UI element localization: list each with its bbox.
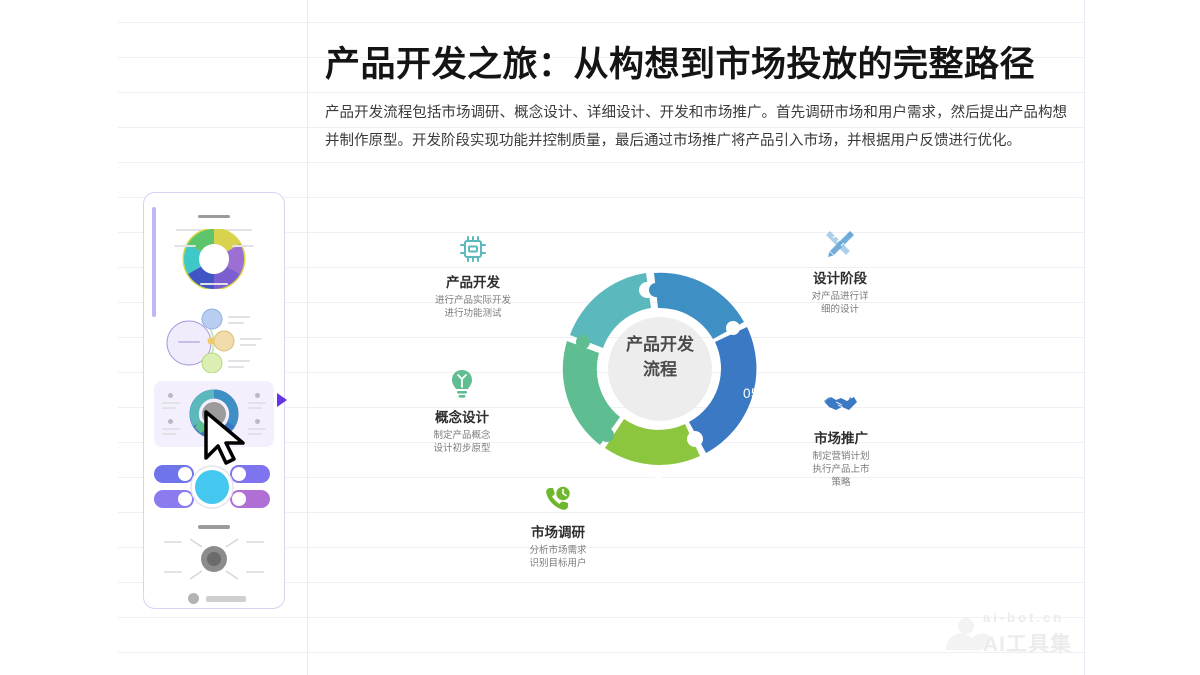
callout-title: 市场调研 bbox=[495, 521, 621, 541]
radial-burst-icon bbox=[154, 531, 274, 587]
callout-title: 设计阶段 bbox=[784, 267, 896, 287]
sidebar-item-list-rows-template[interactable] bbox=[154, 593, 274, 609]
callout-desc-line1: 制定产品概念 bbox=[398, 429, 526, 442]
callout-desc-line1: 制定营销计划 bbox=[782, 450, 900, 463]
grid-line bbox=[118, 162, 1084, 163]
grid-line bbox=[118, 617, 1084, 618]
callout-product-development[interactable]: 产品开发 进行产品实际开发 进行功能测试 bbox=[398, 232, 548, 320]
page-description: 产品开发流程包括市场调研、概念设计、详细设计、开发和市场推广。首先调研市场和用户… bbox=[325, 99, 1067, 155]
mouse-cursor bbox=[203, 410, 249, 466]
cpu-chip-icon bbox=[398, 232, 548, 266]
callout-title: 产品开发 bbox=[398, 271, 548, 291]
vertical-divider-left bbox=[307, 0, 308, 675]
toggle-pills-icon bbox=[154, 457, 274, 517]
watermark-brand: AI工具集 bbox=[983, 628, 1072, 658]
donut-segment-01 bbox=[605, 419, 700, 465]
sidebar-item-bubble-cluster-template[interactable] bbox=[154, 303, 274, 373]
segment-number-01: 01 bbox=[647, 466, 663, 481]
vertical-divider-right bbox=[1084, 0, 1085, 675]
sidebar-expand-marker-icon[interactable] bbox=[277, 393, 287, 407]
segment-number-03: 03 bbox=[595, 269, 611, 284]
grid-line bbox=[118, 22, 1084, 23]
callout-concept-design[interactable]: 概念设计 制定产品概念 设计初步原型 bbox=[398, 367, 526, 455]
callout-desc-line1: 进行产品实际开发 bbox=[398, 294, 548, 307]
slide-canvas: 产品开发之旅：从构想到市场投放的完整路径 产品开发流程包括市场调研、概念设计、详… bbox=[0, 0, 1200, 675]
center-label-line2: 流程 bbox=[597, 357, 723, 382]
segment-number-04: 04 bbox=[707, 270, 723, 285]
callout-desc-line2: 设计初步原型 bbox=[398, 442, 526, 455]
pencil-ruler-icon bbox=[784, 228, 896, 262]
callout-desc-line2: 细的设计 bbox=[784, 303, 896, 316]
center-label-line1: 产品开发 bbox=[597, 332, 723, 357]
sidebar-item-gear-wheel-template[interactable] bbox=[154, 207, 274, 295]
callout-title: 市场推广 bbox=[782, 427, 900, 447]
callout-desc-line3: 策略 bbox=[782, 476, 900, 489]
callout-market-promotion[interactable]: 市场推广 制定营销计划 执行产品上市 策略 bbox=[782, 388, 900, 489]
segment-number-05: 05 bbox=[743, 386, 759, 401]
watermark-domain: ai-bot.cn bbox=[983, 610, 1064, 625]
callout-design-stage[interactable]: 设计阶段 对产品进行详 细的设计 bbox=[784, 228, 896, 316]
callout-desc-line2: 进行功能测试 bbox=[398, 307, 548, 320]
phone-clock-icon bbox=[495, 482, 621, 516]
page-title: 产品开发之旅：从构想到市场投放的完整路径 bbox=[325, 36, 1065, 87]
segment-number-02: 02 bbox=[555, 389, 561, 404]
grid-line bbox=[118, 92, 1084, 93]
donut-center-label: 产品开发 流程 bbox=[597, 332, 723, 382]
callout-market-research[interactable]: 市场调研 分析市场需求 识别目标用户 bbox=[495, 482, 621, 570]
callout-desc-line1: 分析市场需求 bbox=[495, 544, 621, 557]
callout-title: 概念设计 bbox=[398, 406, 526, 426]
handshake-icon bbox=[782, 388, 900, 422]
lightbulb-icon bbox=[398, 367, 526, 401]
callout-desc-line2: 执行产品上市 bbox=[782, 463, 900, 476]
sidebar-item-radial-burst-template[interactable] bbox=[154, 523, 274, 585]
template-sidebar[interactable] bbox=[143, 192, 285, 609]
callout-desc-line2: 识别目标用户 bbox=[495, 557, 621, 570]
sidebar-item-toggle-pills-template[interactable] bbox=[154, 457, 274, 517]
callout-desc-line1: 对产品进行详 bbox=[784, 290, 896, 303]
gear-wheel-icon bbox=[154, 229, 274, 289]
grid-line bbox=[118, 652, 1084, 653]
